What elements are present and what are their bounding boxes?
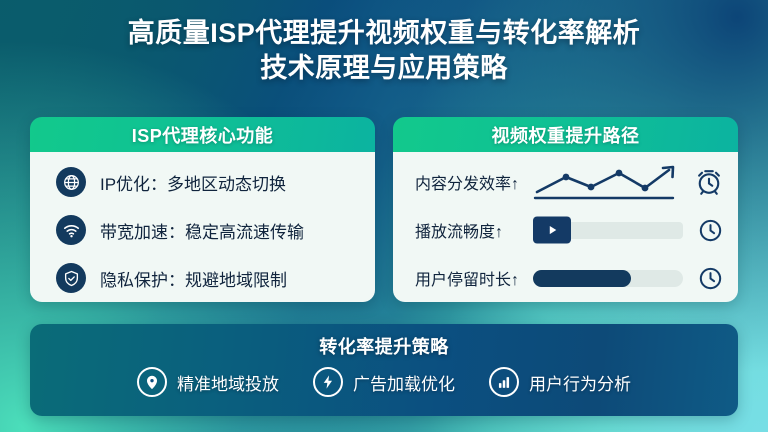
metric-row: 播放流畅度↑ [393,206,738,254]
metric-row: 用户停留时长↑ [393,254,738,302]
title-line-2: 技术原理与应用策略 [0,51,768,86]
clock-icon [697,265,724,292]
strategy-label: 用户行为分析 [529,370,631,395]
bar-chart-icon [489,367,519,397]
feature-label: 带宽加速：稳定高流速传输 [100,218,304,243]
feature-row: 隐私保护：规避地域限制 [30,254,375,302]
progress-track [533,222,683,239]
strategy-label: 精准地域投放 [177,370,279,395]
strategy-item: 精准地域投放 [137,367,279,397]
shield-check-icon [56,263,86,293]
metric-row: 内容分发效率↑ [393,158,738,206]
metric-label: 内容分发效率↑ [415,170,533,194]
conversion-strategy-card: 转化率提升策略 精准地域投放 广告加载优化 [30,324,738,416]
wifi-icon [56,215,86,245]
trend-line-chart [533,165,686,199]
strategy-item: 广告加载优化 [313,367,455,397]
bottom-card-header: 转化率提升策略 [30,333,738,359]
progress-bar[interactable] [533,261,689,295]
play-progress-bar[interactable] [533,213,689,247]
left-card-header: ISP代理核心功能 [30,117,375,152]
strategy-item: 用户行为分析 [489,367,631,397]
progress-track [533,270,683,287]
feature-label: IP优化：多地区动态切换 [100,170,286,195]
strategy-label: 广告加载优化 [353,370,455,395]
feature-label: 隐私保护：规避地域限制 [100,266,287,291]
page-title: 高质量ISP代理提升视频权重与转化率解析 技术原理与应用策略 [0,16,768,85]
left-card-header-label: ISP代理核心功能 [132,122,274,148]
isp-core-features-card: ISP代理核心功能 IP优化：多地区动态切换 [30,117,375,302]
right-card-header: 视频权重提升路径 [393,117,738,152]
location-pin-icon [137,367,167,397]
progress-fill [533,270,631,287]
metric-label: 用户停留时长↑ [415,266,533,290]
feature-row: 带宽加速：稳定高流速传输 [30,206,375,254]
right-card-body: 内容分发效率↑ [393,152,738,302]
feature-row: IP优化：多地区动态切换 [30,158,375,206]
video-weight-path-card: 视频权重提升路径 内容分发效率↑ [393,117,738,302]
metric-label: 播放流畅度↑ [415,218,533,242]
title-line-1: 高质量ISP代理提升视频权重与转化率解析 [0,16,768,51]
lightning-bolt-icon [313,367,343,397]
globe-icon [56,167,86,197]
bottom-card-items: 精准地域投放 广告加载优化 用户行为分析 [30,367,738,397]
clock-icon [697,217,724,244]
left-card-body: IP优化：多地区动态切换 带宽加速：稳定高流速传输 [30,152,375,302]
play-icon[interactable] [533,217,571,244]
infographic-canvas: 高质量ISP代理提升视频权重与转化率解析 技术原理与应用策略 ISP代理核心功能… [0,0,768,432]
right-card-header-label: 视频权重提升路径 [492,122,640,148]
alarm-clock-icon [694,167,724,197]
